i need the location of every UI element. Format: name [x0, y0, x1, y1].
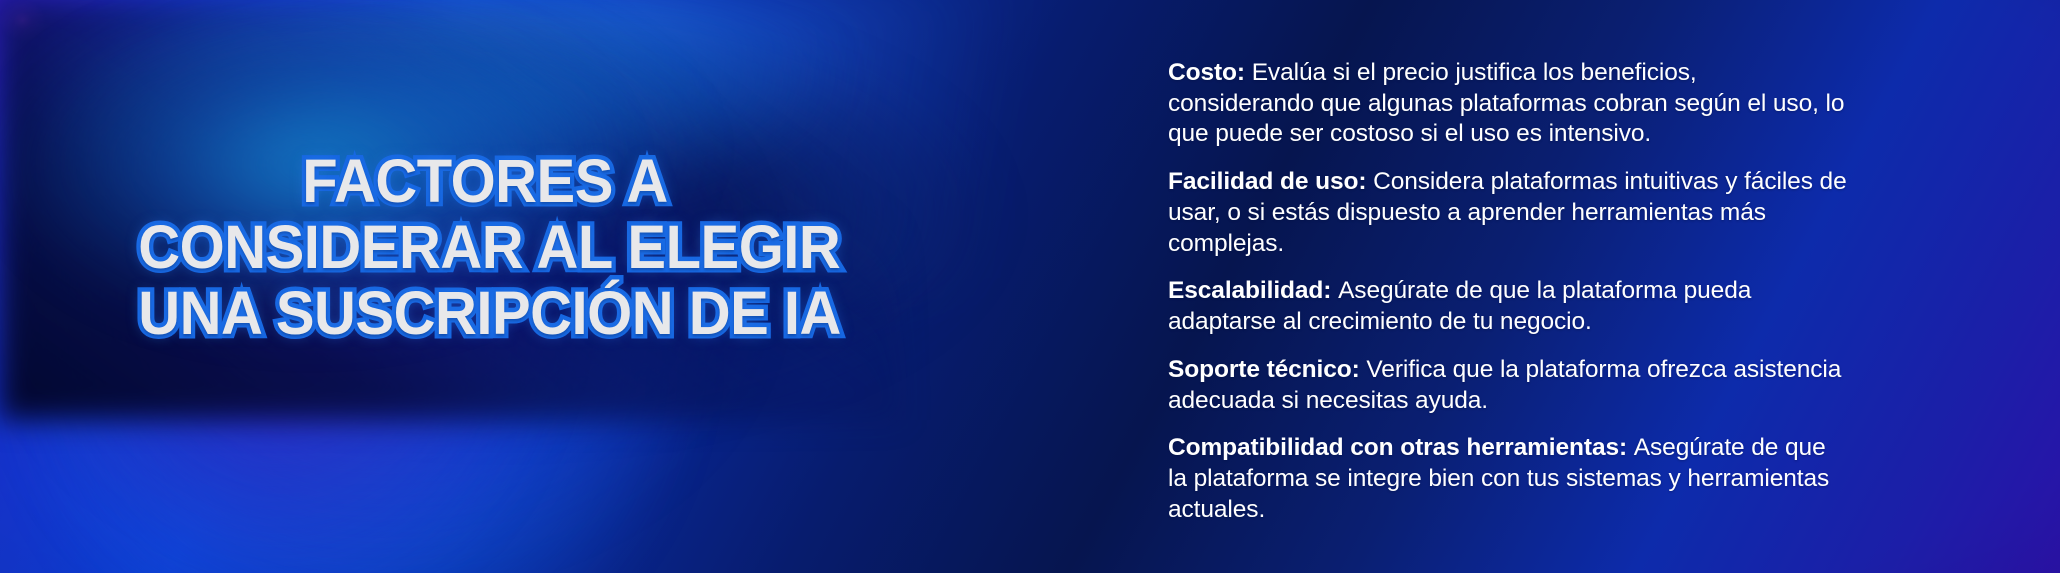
list-item: Escalabilidad: Asegúrate de que la plata…: [1168, 276, 1848, 337]
headline-line-1: FACTORES A: [138, 148, 832, 214]
headline-line-2: CONSIDERAR AL ELEGIR: [138, 214, 832, 280]
promo-banner: FACTORES A CONSIDERAR AL ELEGIR UNA SUSC…: [0, 0, 2060, 573]
factor-text: Evalúa si el precio justifica los benefi…: [1168, 59, 1844, 147]
factor-label: Compatibilidad con otras herramientas:: [1168, 434, 1634, 461]
list-item: Soporte técnico: Verifica que la platafo…: [1168, 355, 1848, 416]
headline-line-3: UNA SUSCRIPCIÓN DE IA: [138, 280, 832, 346]
factor-label: Escalabilidad:: [1168, 277, 1338, 304]
factor-label: Facilidad de uso:: [1168, 168, 1373, 195]
list-item: Compatibilidad con otras herramientas: A…: [1168, 433, 1848, 525]
list-item: Facilidad de uso: Considera plataformas …: [1168, 167, 1848, 259]
factor-label: Costo:: [1168, 59, 1252, 86]
factor-label: Soporte técnico:: [1168, 356, 1366, 383]
headline: FACTORES A CONSIDERAR AL ELEGIR UNA SUSC…: [120, 148, 850, 347]
list-item: Costo: Evalúa si el precio justifica los…: [1168, 58, 1848, 150]
factor-list: Costo: Evalúa si el precio justifica los…: [1168, 58, 1848, 526]
